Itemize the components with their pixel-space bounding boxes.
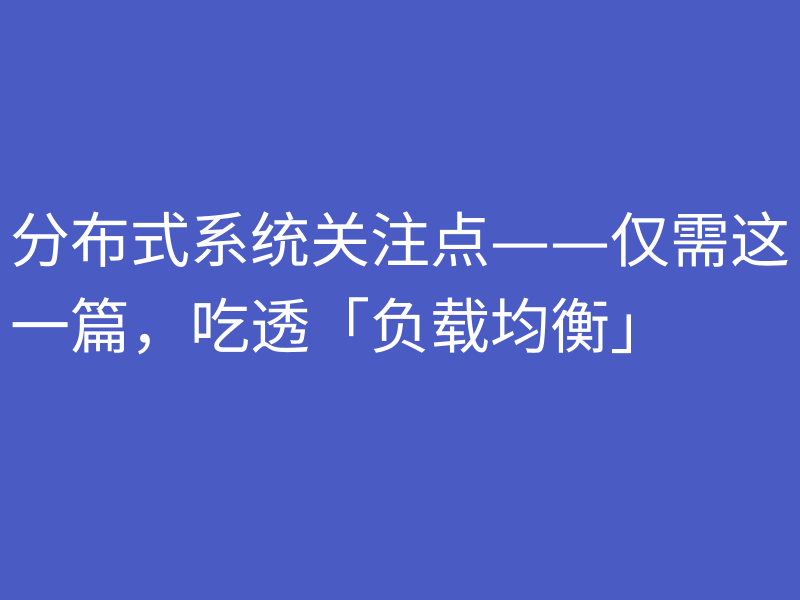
cover-card: 分布式系统关注点——仅需这 一篇，吃透「负载均衡」 [0, 0, 800, 600]
cover-title-line-1: 分布式系统关注点——仅需这 [10, 199, 800, 285]
cover-title-line-2: 一篇，吃透「负载均衡」 [10, 285, 800, 371]
cover-title-block: 分布式系统关注点——仅需这 一篇，吃透「负载均衡」 [0, 199, 800, 371]
